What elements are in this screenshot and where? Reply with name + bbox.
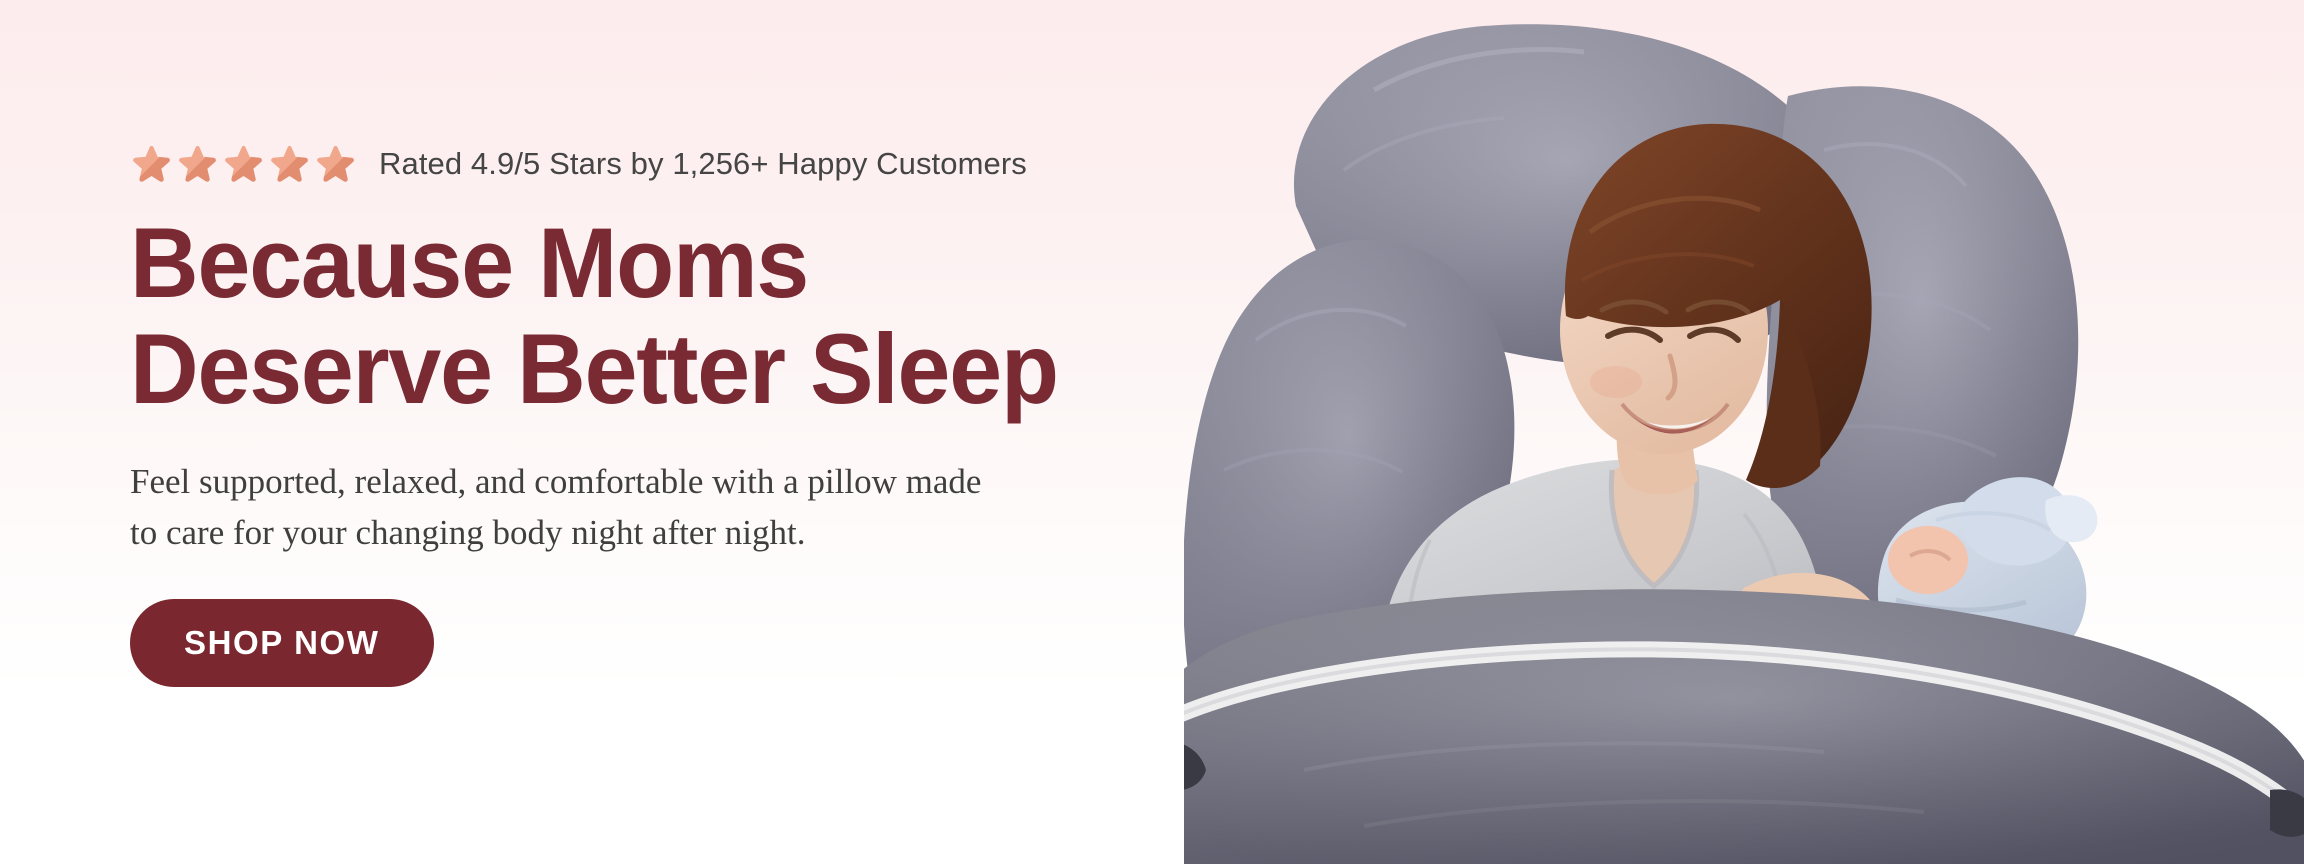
hero-copy-column: Rated 4.9/5 Stars by 1,256+ Happy Custom…	[130, 140, 1310, 687]
rating-row: Rated 4.9/5 Stars by 1,256+ Happy Custom…	[130, 140, 1310, 188]
headline-line-1: Because Moms	[130, 210, 1263, 316]
star-rating	[130, 143, 357, 186]
hero-product-image	[1184, 0, 2304, 864]
pillow-top-bolster	[1294, 24, 1842, 367]
page-title: Because Moms Deserve Better Sleep	[130, 210, 1263, 422]
star-icon	[176, 143, 219, 186]
headline-line-2: Deserve Better Sleep	[130, 316, 1263, 422]
rating-text: Rated 4.9/5 Stars by 1,256+ Happy Custom…	[379, 146, 1027, 182]
pillow-right-back-panel	[1767, 86, 2079, 621]
subcopy-line-2: to care for your changing body night aft…	[130, 507, 1270, 558]
maternity-pillow-illustration	[1184, 0, 2304, 864]
hero-banner: Rated 4.9/5 Stars by 1,256+ Happy Custom…	[0, 0, 2304, 864]
star-icon	[222, 143, 265, 186]
subcopy-line-1: Feel supported, relaxed, and comfortable…	[130, 456, 1270, 507]
shop-now-button[interactable]: SHOP NOW	[130, 599, 434, 687]
star-icon	[130, 143, 173, 186]
star-icon	[268, 143, 311, 186]
pillow-front-bolster	[1184, 589, 2304, 864]
woman-torso	[1379, 459, 1825, 744]
baby	[1878, 477, 2097, 676]
woman-arm	[1731, 573, 1887, 694]
hero-subcopy: Feel supported, relaxed, and comfortable…	[130, 456, 1270, 559]
star-icon	[314, 143, 357, 186]
woman-head	[1560, 124, 1872, 495]
